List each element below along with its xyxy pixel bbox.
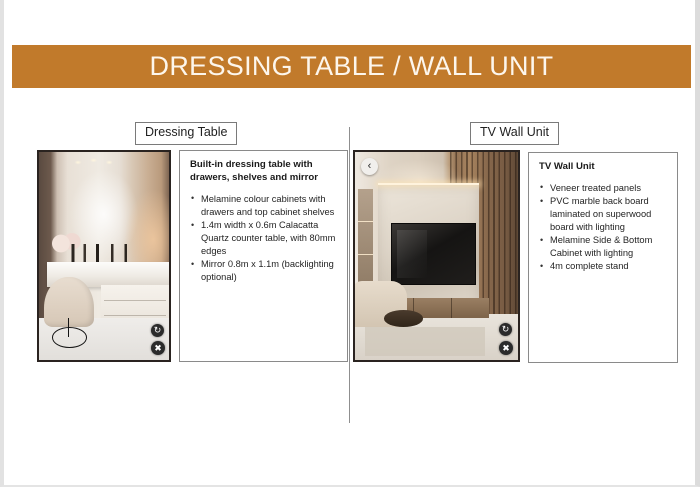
cove-lighting (378, 183, 479, 185)
list-item: Melamine Side & Bottom Cabinet with ligh… (539, 234, 668, 260)
column-divider (349, 127, 350, 423)
back-chevron-icon-glyph: ‹ (368, 161, 372, 172)
page-title: DRESSING TABLE / WALL UNIT (150, 51, 554, 82)
list-item: Veneer treated panels (539, 182, 668, 195)
slide-canvas: DRESSING TABLE / WALL UNIT Dressing Tabl… (0, 0, 700, 487)
spec-bullet-list: Veneer treated panels PVC marble back bo… (539, 182, 668, 273)
tv-wall-unit-image (355, 152, 518, 360)
list-item: 4m complete stand (539, 260, 668, 273)
list-item: Mirror 0.8m x 1.1m (backlighting optiona… (190, 258, 338, 284)
spec-bullet-list: Melamine colour cabinets with drawers an… (190, 193, 338, 284)
rotate-icon[interactable]: ↻ (499, 323, 512, 336)
television-screen (391, 223, 476, 285)
list-item: PVC marble back board laminated on super… (539, 195, 668, 233)
area-rug (365, 327, 486, 356)
dressing-table-image (39, 152, 169, 360)
slide-title-band: DRESSING TABLE / WALL UNIT (12, 45, 691, 88)
coffee-table (384, 310, 423, 327)
spec-heading: Built-in dressing table with drawers, sh… (190, 159, 338, 185)
photo-dressing-table[interactable]: ↻ ✖ (37, 150, 171, 362)
close-icon[interactable]: ✖ (499, 341, 513, 355)
photo-tv-wall-unit[interactable]: ‹ ↻ ✖ (353, 150, 520, 362)
close-icon-glyph: ✖ (502, 344, 510, 353)
rotate-icon[interactable]: ↻ (151, 324, 164, 337)
rotate-icon-glyph: ↻ (154, 326, 162, 335)
side-shelf (358, 189, 373, 293)
close-icon-glyph: ✖ (154, 344, 162, 353)
spec-card-tv-wall-unit: TV Wall Unit Veneer treated panels PVC m… (528, 152, 678, 363)
list-item: Melamine colour cabinets with drawers an… (190, 193, 338, 219)
chair-base (52, 327, 87, 348)
rotate-icon-glyph: ↻ (502, 325, 510, 334)
section-label-dressing-table: Dressing Table (135, 122, 237, 145)
spec-heading: TV Wall Unit (539, 161, 668, 174)
spec-card-dressing-table: Built-in dressing table with drawers, sh… (179, 150, 348, 362)
section-label-tv-wall-unit: TV Wall Unit (470, 122, 559, 145)
close-icon[interactable]: ✖ (151, 341, 165, 355)
back-chevron-icon[interactable]: ‹ (361, 158, 378, 175)
list-item: 1.4m width x 0.6m Calacatta Quartz count… (190, 219, 338, 257)
